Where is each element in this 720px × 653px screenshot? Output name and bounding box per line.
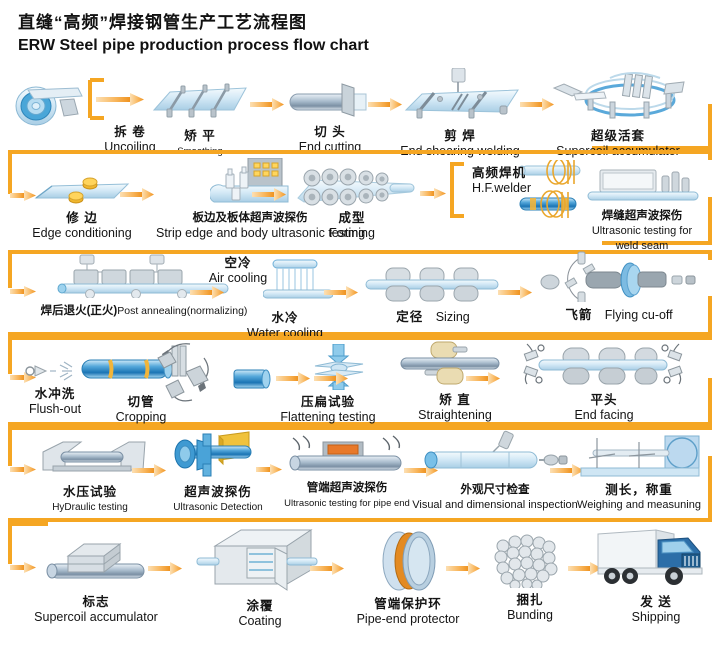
step-label-cn: 焊后退火(正火) <box>41 304 118 319</box>
step-straightening[interactable]: 矫 直 Straightening <box>380 340 530 423</box>
step-label-cn: 矫 平 <box>148 129 252 144</box>
step-label-en: Straightening <box>380 408 530 423</box>
step-label-cn: 标志 <box>26 595 166 610</box>
flow-arrow <box>120 188 154 201</box>
coating-oven-icon <box>195 526 325 594</box>
step-label-cn: 飞箭 <box>565 308 592 323</box>
step-water-cooling[interactable]: 水冷 Water cooling <box>230 258 340 341</box>
chart-title-block: 直缝“高频”焊接钢管生产工艺流程图 ERW Steel pipe product… <box>18 12 369 57</box>
accumulator-icon <box>548 66 688 124</box>
rotary-blades-icon <box>142 338 228 412</box>
step-label-cn: 定径 <box>396 310 423 325</box>
step-label-cn: 管端超声波探伤 <box>276 481 418 496</box>
step-coil[interactable] <box>8 76 88 131</box>
steel-coil-icon <box>8 76 88 126</box>
bundle-icon <box>489 532 571 588</box>
step-label-en: Supercoil accumulator <box>26 610 166 625</box>
flow-row-4: 水冲洗 Flush-out 切管 Cropping <box>8 336 712 426</box>
marking-icon <box>36 534 156 590</box>
step-label-en: Pipe-end protector <box>338 612 478 627</box>
step-label-cn: 捆扎 <box>472 593 588 608</box>
seam-ut-icon <box>580 164 704 204</box>
step-label-cn: 成型 <box>292 211 412 226</box>
step-label-cn: 水压试验 <box>26 485 154 500</box>
step-label-cn: 水冷 <box>230 311 340 326</box>
step-label-cn: 矫 直 <box>380 393 530 408</box>
step-end-cutting[interactable]: 切 头 End cutting <box>284 82 376 155</box>
step-label-cn: 发 送 <box>596 595 716 610</box>
step-label-en: Shipping <box>596 610 716 625</box>
flow-arrow <box>148 562 182 575</box>
step-label-en: Bunding <box>472 608 588 623</box>
step-label-cn: 剪 焊 <box>396 129 524 144</box>
flow-arrow <box>498 286 532 299</box>
step-label-en: Post annealing(normalizing) <box>117 304 247 319</box>
step-weld-seam-ut[interactable]: 焊缝超声波探伤 Ultrasonic testing for weld seam <box>580 164 704 254</box>
step-end-facing[interactable]: 平头 End facing <box>514 340 694 423</box>
step-flying-cutoff[interactable]: 飞箭 Flying cu-off <box>536 250 702 325</box>
pipe-end-ut-icon <box>283 432 411 476</box>
truck-icon <box>596 524 716 590</box>
step-label-en: Flying cu-off <box>605 308 673 323</box>
step-label-en: Edge conditioning <box>28 226 136 241</box>
step-label-en: Ultrasonic testing for pipe end <box>276 496 418 511</box>
step-coating[interactable]: 涂覆 Coating <box>194 526 326 629</box>
flow-arrow <box>252 188 286 201</box>
flow-arrow <box>420 188 446 199</box>
step-bunding[interactable]: 捆扎 Bunding <box>472 532 588 623</box>
flow-arrow <box>190 286 224 299</box>
flow-arrow <box>314 372 348 385</box>
flow-row-6: 标志 Supercoil accumulator 涂覆 Coating <box>8 522 712 650</box>
step-label-cn: 超级活套 <box>548 129 688 144</box>
step-label-cn: 高频焊机 <box>472 166 531 181</box>
flow-row-5: 水压试验 HyDraulic testing 超声波探伤 Ultrasonic … <box>8 426 712 522</box>
flow-row-1: 拆 卷 Uncoiling 矫 平 Smoothing <box>8 72 712 150</box>
shear-icon <box>284 82 376 120</box>
step-label-en: H.F.welder <box>472 181 531 196</box>
leveller-icon <box>148 76 252 124</box>
step-supercoil-accumulator[interactable]: 超级活套 Supercoil accumulator <box>548 66 688 159</box>
step-label-cn: 外观尺寸检查 <box>406 483 584 498</box>
step-label-cn: 管端保护环 <box>338 597 478 612</box>
page-title-en: ERW Steel pipe production process flow c… <box>18 35 369 57</box>
step-label-en: Coating <box>194 614 326 629</box>
step-label-en: Ultrasonic Detection <box>160 500 276 515</box>
forming-rolls-icon <box>292 162 416 206</box>
step-label-en: Visual and dimensional inspection <box>406 498 584 513</box>
step-label-en: Cropping <box>76 410 206 425</box>
flow-arrow <box>250 98 284 111</box>
shear-welder-icon <box>396 68 524 124</box>
step-weighing[interactable]: 测长，称重 Weighing and measuning <box>574 428 704 513</box>
step-label-en: Forming <box>292 226 412 241</box>
step-label-cn: 测长，称重 <box>574 483 704 498</box>
step-edge-conditioning[interactable]: 修 边 Edge conditioning <box>28 172 136 241</box>
step-forming[interactable]: 成型 Forming <box>292 162 412 241</box>
end-facing-icon <box>517 340 691 388</box>
step-smoothing[interactable]: 矫 平 Smoothing <box>148 76 252 159</box>
step-shipping[interactable]: 发 送 Shipping <box>596 524 716 625</box>
step-label-cn: 涂覆 <box>194 599 326 614</box>
step-pipe-end-ut[interactable]: 管端超声波探伤 Ultrasonic testing for pipe end <box>276 432 418 511</box>
step-label-en: End facing <box>514 408 694 423</box>
flow-row-3: 焊后退火(正火)Post annealing(normalizing) 空冷 A… <box>8 250 712 336</box>
page-title-cn: 直缝“高频”焊接钢管生产工艺流程图 <box>18 12 369 34</box>
step-pipe-end-protector[interactable]: 管端保护环 Pipe-end protector <box>338 530 478 627</box>
sizing-rolls-icon <box>360 260 506 304</box>
flow-arrow <box>466 372 500 385</box>
weighing-icon <box>575 428 703 478</box>
flow-arrow <box>324 286 358 299</box>
step-label-cn: 超声波探伤 <box>160 485 276 500</box>
step-label-en: Weighing and measuning <box>574 498 704 513</box>
step-label-cn: 修 边 <box>28 211 136 226</box>
step-label-cn: 平头 <box>514 393 694 408</box>
step-marking[interactable]: 标志 Supercoil accumulator <box>26 534 166 625</box>
protector-ring-icon <box>363 530 453 592</box>
step-label-cn: 焊缝超声波探伤 <box>580 209 704 224</box>
step-label-cn: 切 头 <box>284 125 376 140</box>
step-sizing[interactable]: 定径 Sizing <box>360 260 506 327</box>
water-cooling-icon <box>263 258 333 306</box>
flow-row-2: 修 边 Edge conditioning 板边及板体超声波探伤 Strip e… <box>8 150 712 245</box>
step-end-shearing-welding[interactable]: 剪 焊 End shearing welding <box>396 68 524 159</box>
step-label-en: HyDraulic testing <box>26 500 154 515</box>
flying-saw-icon <box>536 250 702 302</box>
step-label-en: Sizing <box>436 310 470 325</box>
